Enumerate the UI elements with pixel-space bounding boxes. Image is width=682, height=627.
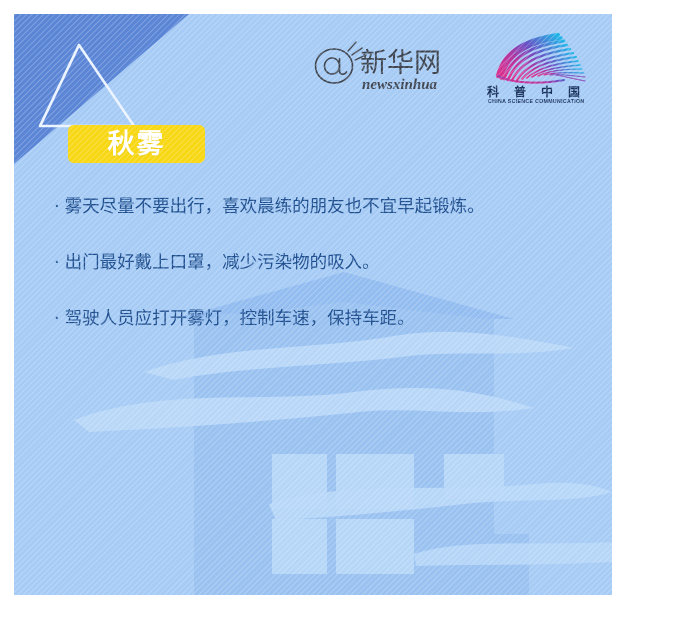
title-badge: 秋雾 [68, 125, 205, 163]
bullet-icon: · [54, 253, 60, 274]
list-item: · 雾天尽量不要出行，喜欢晨练的朋友也不宜早起锻炼。 [54, 197, 594, 218]
csc-cn-char-1: 科 [487, 84, 499, 99]
list-item-text: 雾天尽量不要出行，喜欢晨练的朋友也不宜早起锻炼。 [65, 197, 485, 218]
list-item: · 驾驶人员应打开雾灯，控制车速，保持车距。 [54, 309, 594, 330]
csc-en-text: CHINA SCIENCE COMMUNICATION [488, 99, 584, 105]
list-item: · 出门最好戴上口罩，减少污染物的吸入。 [54, 253, 594, 274]
list-item-text: 驾驶人员应打开雾灯，控制车速，保持车距。 [65, 309, 415, 330]
xinhua-logo[interactable]: 新华网 newsxinhua [314, 40, 470, 96]
content-panel: 新华网 newsxinhua [14, 14, 612, 595]
xinhua-cn-text: 新华网 [360, 48, 441, 79]
csc-cn-char-4: 国 [568, 85, 580, 99]
poster-root: 新华网 newsxinhua [0, 0, 682, 627]
page-title: 秋雾 [108, 131, 166, 158]
gradient-wing-icon [498, 35, 585, 81]
csc-logo[interactable]: 科 普 中 国 CHINA SCIENCE COMMUNICATION [484, 32, 596, 106]
corner-wedge [14, 14, 244, 214]
csc-cn-char-2: 普 [514, 84, 526, 99]
xinhua-en-text: newsxinhua [362, 77, 438, 93]
csc-cn-char-3: 中 [541, 84, 553, 99]
bullet-icon: · [54, 309, 60, 330]
bullet-icon: · [54, 197, 60, 218]
list-item-text: 出门最好戴上口罩，减少污染物的吸入。 [65, 253, 380, 274]
header-logos: 新华网 newsxinhua [314, 32, 596, 104]
advice-list: · 雾天尽量不要出行，喜欢晨练的朋友也不宜早起锻炼。 · 出门最好戴上口罩，减少… [54, 197, 594, 330]
